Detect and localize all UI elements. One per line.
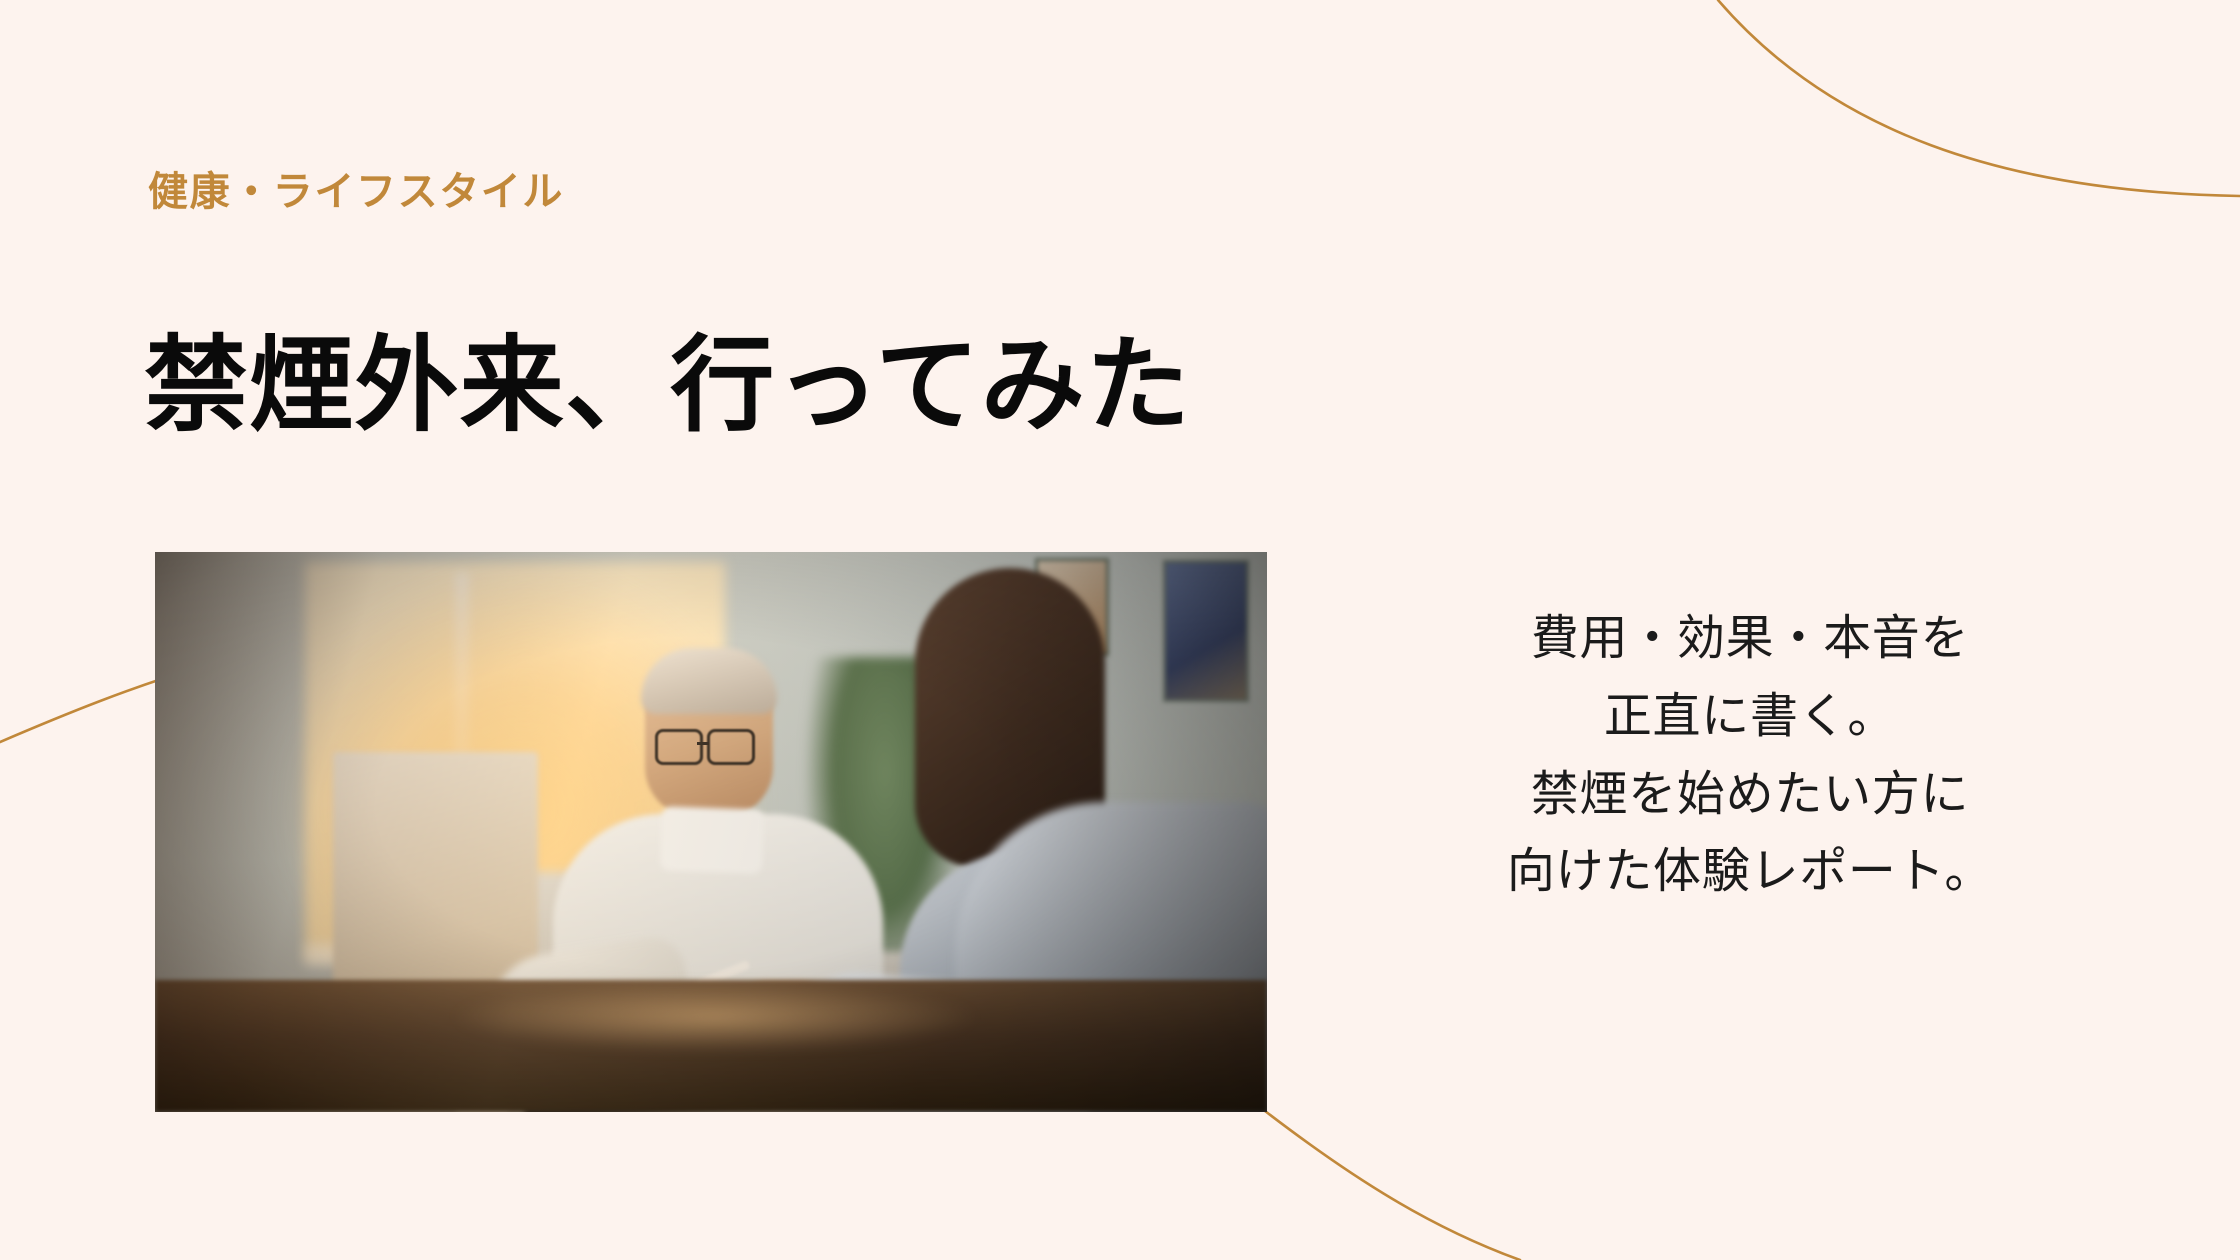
arc-top-right-line: [1718, 0, 2240, 196]
scene-vignette: [155, 552, 1267, 1112]
description-block: 費用・効果・本音を 正直に書く。 禁煙を始めたい方に 向けた体験レポート。: [1430, 600, 2070, 911]
description-line: 費用・効果・本音を: [1430, 600, 2070, 678]
page-kicker: 健康・ライフスタイル: [148, 172, 564, 212]
description-line: 正直に書く。: [1430, 678, 2070, 756]
page-title: 禁煙外来、行ってみた: [144, 325, 1191, 448]
photo-scene: [155, 552, 1267, 1112]
hero-photo: [155, 552, 1267, 1112]
slide-canvas: 健康・ライフスタイル 禁煙外来、行ってみた: [0, 0, 2240, 1260]
description-line: 向けた体験レポート。: [1430, 833, 2070, 911]
arc-bottom-right-line: [1265, 1111, 1520, 1260]
description-line: 禁煙を始めたい方に: [1430, 756, 2070, 834]
